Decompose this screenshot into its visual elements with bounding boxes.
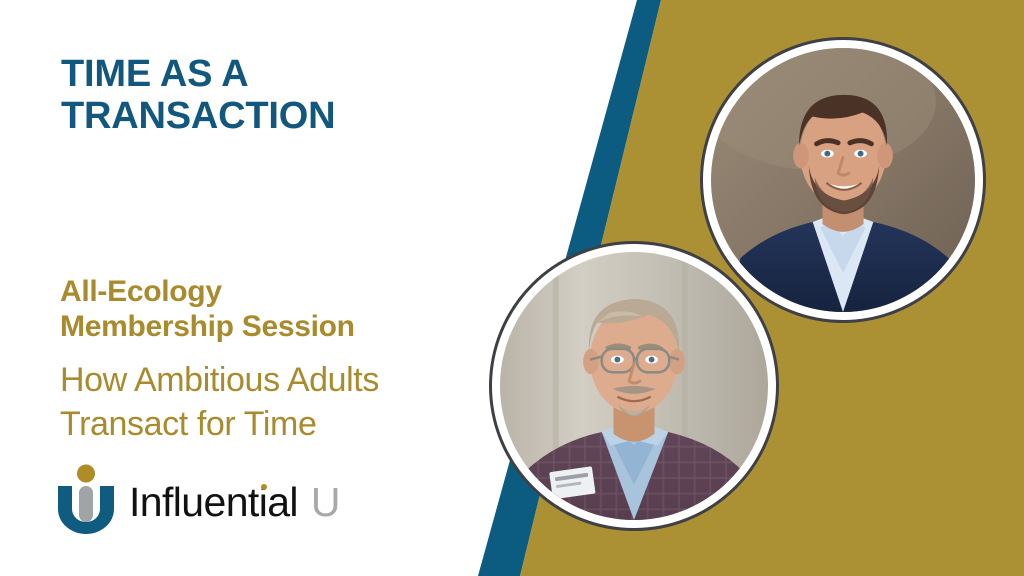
logo-wordmark: Influential U (129, 482, 340, 523)
brand-logo: Influential U (55, 463, 340, 535)
session-heading: All-Ecology Membership Session (60, 274, 510, 344)
portrait-image-bottom (500, 252, 768, 520)
speaker-portrait-top-right (700, 37, 986, 323)
text-column: TIME AS A TRANSACTION All-Ecology Member… (0, 0, 520, 576)
logo-gold-tittle-icon (261, 484, 267, 490)
portrait-image-top (711, 48, 975, 312)
session-subheading: How Ambitious Adults Transact for Time (60, 358, 520, 446)
presentation-slide: TIME AS A TRANSACTION All-Ecology Member… (0, 0, 1024, 576)
logo-gray-stem (79, 486, 93, 522)
influential-u-monogram-icon (55, 464, 117, 534)
logo-word-u: U (311, 482, 340, 523)
logo-word-influential: Influential (129, 482, 298, 523)
page-title: TIME AS A TRANSACTION (61, 53, 491, 137)
logo-gold-dot (77, 465, 95, 483)
speaker-portrait-lower-left (489, 241, 779, 531)
